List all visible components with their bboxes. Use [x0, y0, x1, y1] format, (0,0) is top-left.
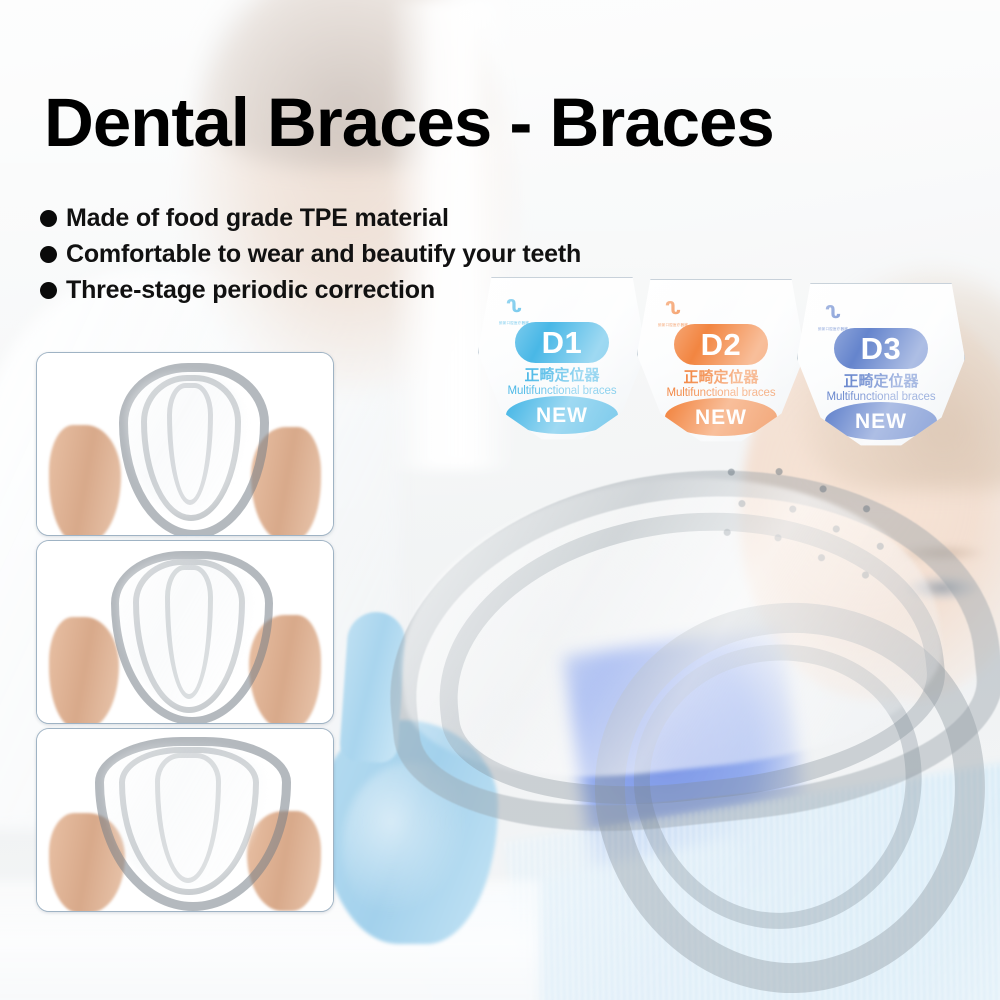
finger: [49, 425, 121, 536]
aligner-illustration: [93, 735, 277, 899]
product-advertisement-poster: Dental Braces - Braces Made of food grad…: [0, 0, 1000, 1000]
brand-logo: ᔐ 朗景口腔医疗器械: [493, 294, 535, 325]
stage-badge-d3: D3: [834, 328, 928, 369]
brand-logo-icon: ᔐ: [821, 300, 846, 325]
aligner-illustration: [109, 549, 261, 715]
brand-logo-icon: ᔐ: [502, 294, 527, 319]
product-thumbnail-card[interactable]: [36, 728, 334, 912]
bullet-dot-icon: [40, 282, 57, 299]
product-thumbnail-card[interactable]: [36, 352, 334, 536]
product-thumbnail-card[interactable]: [36, 540, 334, 724]
list-item: Made of food grade TPE material: [40, 203, 680, 233]
hero-product-image: [378, 452, 990, 930]
stage-badge-d2: D2: [674, 324, 768, 365]
brand-logo: ᔐ 朗景口腔医疗器械: [812, 300, 854, 331]
feature-text: Three-stage periodic correction: [66, 278, 435, 303]
list-item: Comfortable to wear and beautify your te…: [40, 239, 680, 269]
bullet-dot-icon: [40, 210, 57, 227]
aligner-illustration: [115, 361, 255, 527]
brand-logo: ᔐ 朗景口腔医疗器械: [652, 296, 694, 327]
thumbnail-photo-1: [37, 353, 333, 535]
page-title: Dental Braces - Braces: [44, 88, 956, 157]
stage-badge-d1: D1: [515, 322, 609, 363]
feature-text: Comfortable to wear and beautify your te…: [66, 242, 581, 267]
package-name-cn: 正畸定位器: [638, 370, 804, 385]
package-name-cn: 正畸定位器: [798, 374, 964, 389]
bullet-dot-icon: [40, 246, 57, 263]
package-name-cn: 正畸定位器: [479, 368, 645, 383]
thumbnail-photo-2: [37, 541, 333, 723]
thumbnail-photo-3: [37, 729, 333, 911]
brand-logo-icon: ᔐ: [661, 296, 686, 321]
feature-text: Made of food grade TPE material: [66, 206, 449, 231]
